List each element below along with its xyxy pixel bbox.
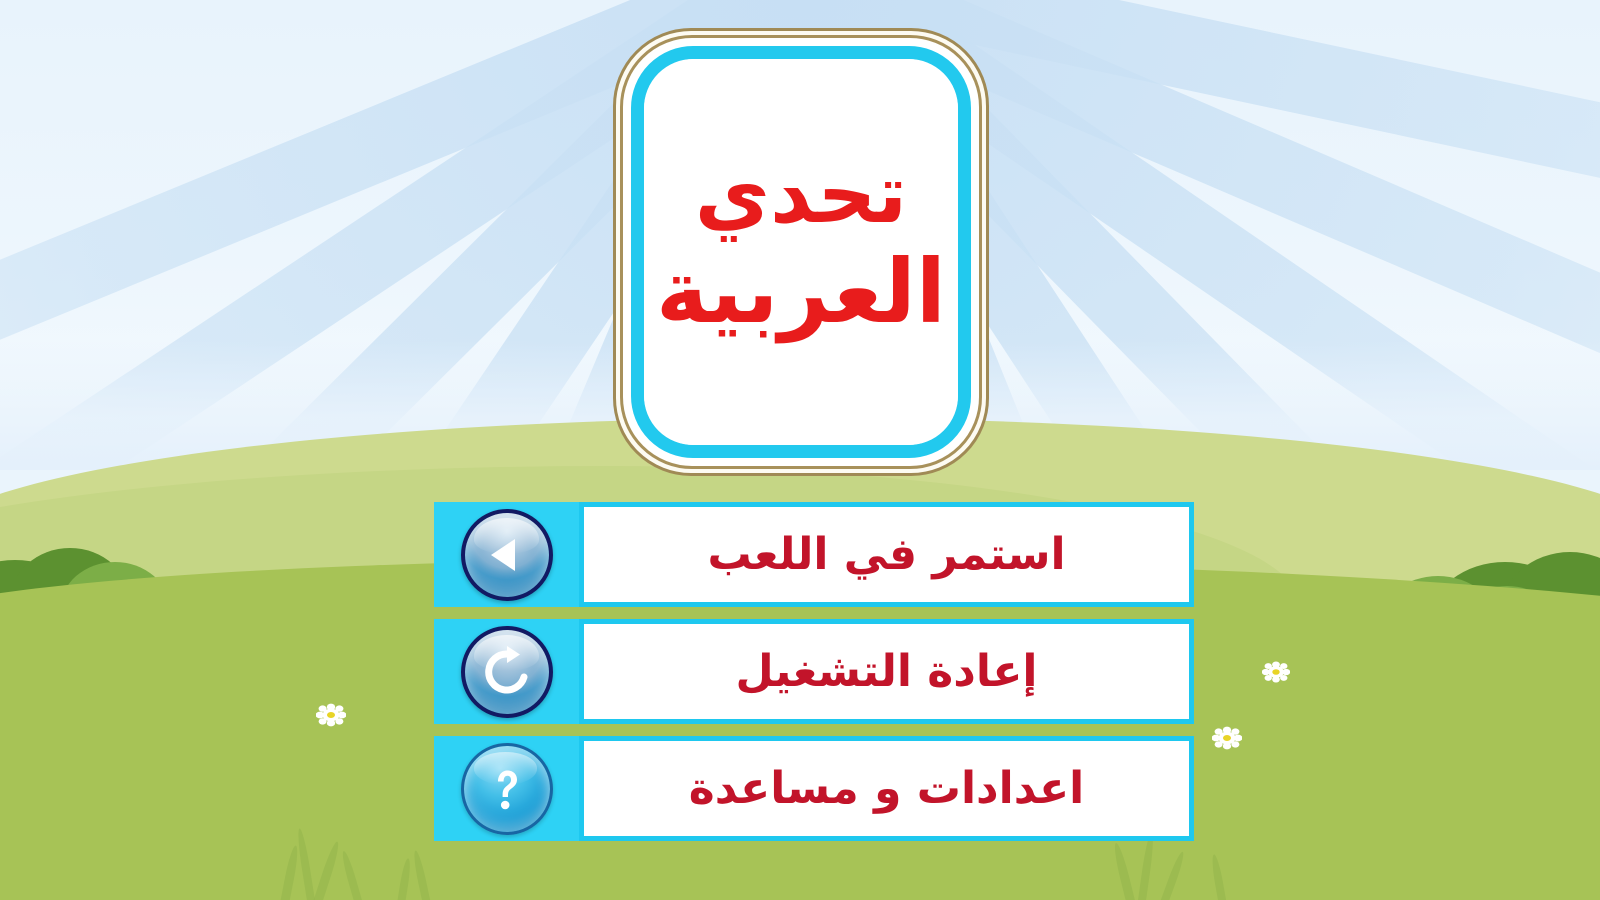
- menu-item-settings-help-label: اعدادات و مساعدة: [689, 763, 1084, 814]
- question-mark-icon[interactable]: [461, 743, 553, 835]
- game-title-line-1: تحدي: [695, 152, 907, 238]
- game-title-line-2: العربية: [656, 246, 946, 338]
- title-card-content: تحدي العربية: [644, 59, 958, 445]
- menu-item-continue-label-panel[interactable]: استمر في اللعب: [579, 502, 1194, 607]
- menu-item-restart-label: إعادة التشغيل: [736, 646, 1038, 697]
- menu-item-continue-icon-panel[interactable]: [434, 502, 579, 607]
- menu-item-settings-help-label-panel[interactable]: اعدادات و مساعدة: [579, 736, 1194, 841]
- daisy-flower: [316, 702, 346, 728]
- game-title-card: تحدي العربية: [613, 28, 989, 476]
- menu-item-settings-help[interactable]: اعدادات و مساعدة: [434, 736, 1194, 841]
- menu-item-settings-help-icon-panel[interactable]: [434, 736, 579, 841]
- play-back-triangle-icon[interactable]: [461, 509, 553, 601]
- menu-item-continue[interactable]: استمر في اللعب: [434, 502, 1194, 607]
- menu-item-continue-label: استمر في اللعب: [707, 529, 1065, 580]
- daisy-flower: [1260, 660, 1290, 686]
- menu-item-restart[interactable]: إعادة التشغيل: [434, 619, 1194, 724]
- daisy-flower: [1212, 725, 1242, 751]
- menu-item-restart-icon-panel[interactable]: [434, 619, 579, 724]
- refresh-icon[interactable]: [461, 626, 553, 718]
- main-menu: استمر في اللعب إعادة التشغيل: [434, 502, 1194, 853]
- game-menu-screen: تحدي العربية استمر في اللعب: [0, 0, 1600, 900]
- menu-item-restart-label-panel[interactable]: إعادة التشغيل: [579, 619, 1194, 724]
